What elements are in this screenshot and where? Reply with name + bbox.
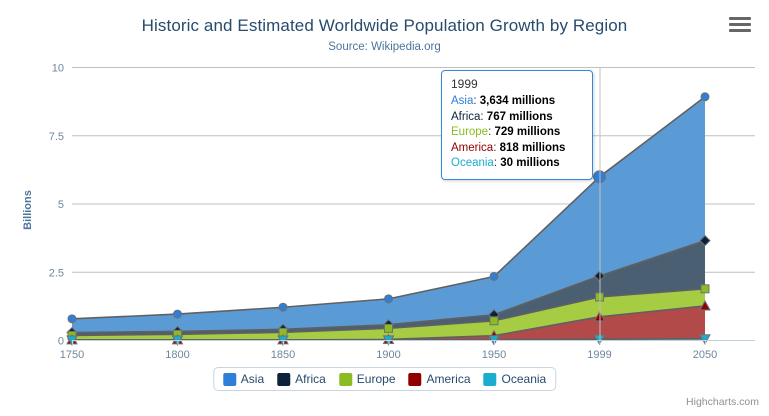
tooltip-series-name: Asia <box>451 95 473 107</box>
x-axis-tick-label: 2050 <box>693 349 717 361</box>
legend-label: Oceania <box>502 372 547 386</box>
x-axis-tick-label: 1800 <box>165 349 189 361</box>
y-axis-title: Billions <box>22 190 34 230</box>
legend-item-america[interactable]: America <box>409 372 471 386</box>
tooltip-series-name: Oceania <box>451 157 494 169</box>
y-axis-tick-label: 10 <box>52 63 64 75</box>
y-axis-tick-label: 2.5 <box>49 267 64 279</box>
legend-item-oceania[interactable]: Oceania <box>484 372 547 386</box>
legend-label: America <box>427 372 471 386</box>
tooltip-series-value: 767 millions <box>487 111 553 123</box>
tooltip-row-africa: Africa: 767 millions <box>451 110 583 126</box>
tooltip-series-value: 818 millions <box>500 142 566 154</box>
y-axis-tick-label: 0 <box>58 336 64 348</box>
highcharts-container: Historic and Estimated Worldwide Populat… <box>0 0 769 416</box>
tooltip-row-europe: Europe: 729 millions <box>451 125 583 141</box>
legend-swatch-oceania <box>484 373 497 386</box>
data-point-europe-2050[interactable] <box>701 285 709 293</box>
tooltip-row-america: America: 818 millions <box>451 141 583 157</box>
data-point-asia-1900[interactable] <box>385 295 393 303</box>
data-point-europe-1900[interactable] <box>385 324 393 332</box>
data-point-europe-1950[interactable] <box>490 317 498 325</box>
y-axis-tick-label: 7.5 <box>49 131 64 143</box>
tooltip-row-asia: Asia: 3,634 millions <box>451 94 583 110</box>
chart-plot-area: 02.557.510Billions1750180018501900195019… <box>0 0 769 416</box>
x-axis-tick-label: 1900 <box>376 349 400 361</box>
tooltip-row-oceania: Oceania: 30 millions <box>451 156 583 172</box>
tooltip-series-value: 729 millions <box>494 126 560 138</box>
tooltip-header: 1999 <box>451 77 583 92</box>
y-axis-tick-label: 5 <box>58 199 64 211</box>
legend-swatch-europe <box>339 373 352 386</box>
tooltip-series-name: Europe <box>451 126 488 138</box>
data-point-asia-1950[interactable] <box>490 272 498 280</box>
legend-label: Africa <box>295 372 326 386</box>
tooltip-series-name: Africa <box>451 111 480 123</box>
data-point-asia-1800[interactable] <box>174 310 182 318</box>
tooltip-series-value: 3,634 millions <box>480 95 555 107</box>
legend-swatch-asia <box>223 373 236 386</box>
legend-label: Europe <box>357 372 396 386</box>
legend-item-africa[interactable]: Africa <box>277 372 326 386</box>
highcharts-credits[interactable]: Highcharts.com <box>686 396 759 408</box>
tooltip-series-name: America <box>451 142 493 154</box>
x-axis-tick-label: 1750 <box>60 349 84 361</box>
x-axis-tick-label: 1950 <box>482 349 506 361</box>
legend-swatch-africa <box>277 373 290 386</box>
data-point-asia-2050[interactable] <box>701 93 709 101</box>
legend-swatch-america <box>409 373 422 386</box>
chart-legend: AsiaAfricaEuropeAmericaOceania <box>213 367 556 391</box>
chart-tooltip: 1999 Asia: 3,634 millionsAfrica: 767 mil… <box>441 70 593 180</box>
legend-item-asia[interactable]: Asia <box>223 372 264 386</box>
tooltip-series-value: 30 millions <box>500 157 559 169</box>
x-axis-tick-label: 1999 <box>587 349 611 361</box>
tooltip-rows: Asia: 3,634 millionsAfrica: 767 millions… <box>451 94 583 172</box>
legend-label: Asia <box>241 372 264 386</box>
data-point-asia-1750[interactable] <box>68 315 76 323</box>
data-point-asia-1850[interactable] <box>279 303 287 311</box>
legend-item-europe[interactable]: Europe <box>339 372 396 386</box>
x-axis-tick-label: 1850 <box>271 349 295 361</box>
